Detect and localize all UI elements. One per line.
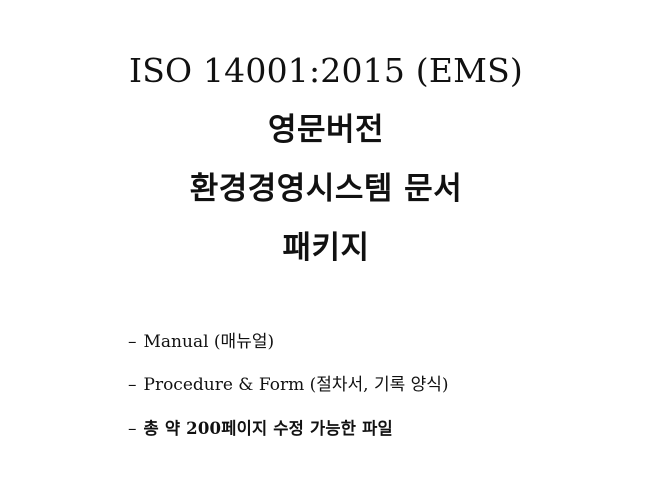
list-item: – Procedure & Form (절차서, 기록 양식) bbox=[128, 375, 598, 396]
slide-canvas: ISO 14001:2015 (EMS) 영문버전 환경경영시스템 문서 패키지… bbox=[0, 0, 652, 488]
list-item: – Manual (매뉴얼) bbox=[128, 332, 598, 353]
subtitle-package: 패키지 bbox=[0, 230, 652, 267]
list-item-label-procedure-form: Procedure & Form (절차서, 기록 양식) bbox=[144, 375, 449, 396]
dash-bullet-icon: – bbox=[128, 421, 137, 438]
subtitle-document-type: 환경경영시스템 문서 bbox=[0, 171, 652, 208]
heading-block: ISO 14001:2015 (EMS) 영문버전 환경경영시스템 문서 패키지 bbox=[0, 52, 652, 268]
list-item: – 총 약 200페이지 수정 가능한 파일 bbox=[128, 419, 598, 440]
list-item-label-manual: Manual (매뉴얼) bbox=[144, 332, 275, 353]
feature-list: – Manual (매뉴얼) – Procedure & Form (절차서, … bbox=[128, 332, 598, 439]
dash-bullet-icon: – bbox=[128, 334, 137, 351]
subtitle-version: 영문버전 bbox=[0, 112, 652, 149]
page-title: ISO 14001:2015 (EMS) bbox=[0, 52, 652, 90]
dash-bullet-icon: – bbox=[128, 377, 137, 394]
list-item-label-page-count: 총 약 200페이지 수정 가능한 파일 bbox=[144, 419, 393, 440]
